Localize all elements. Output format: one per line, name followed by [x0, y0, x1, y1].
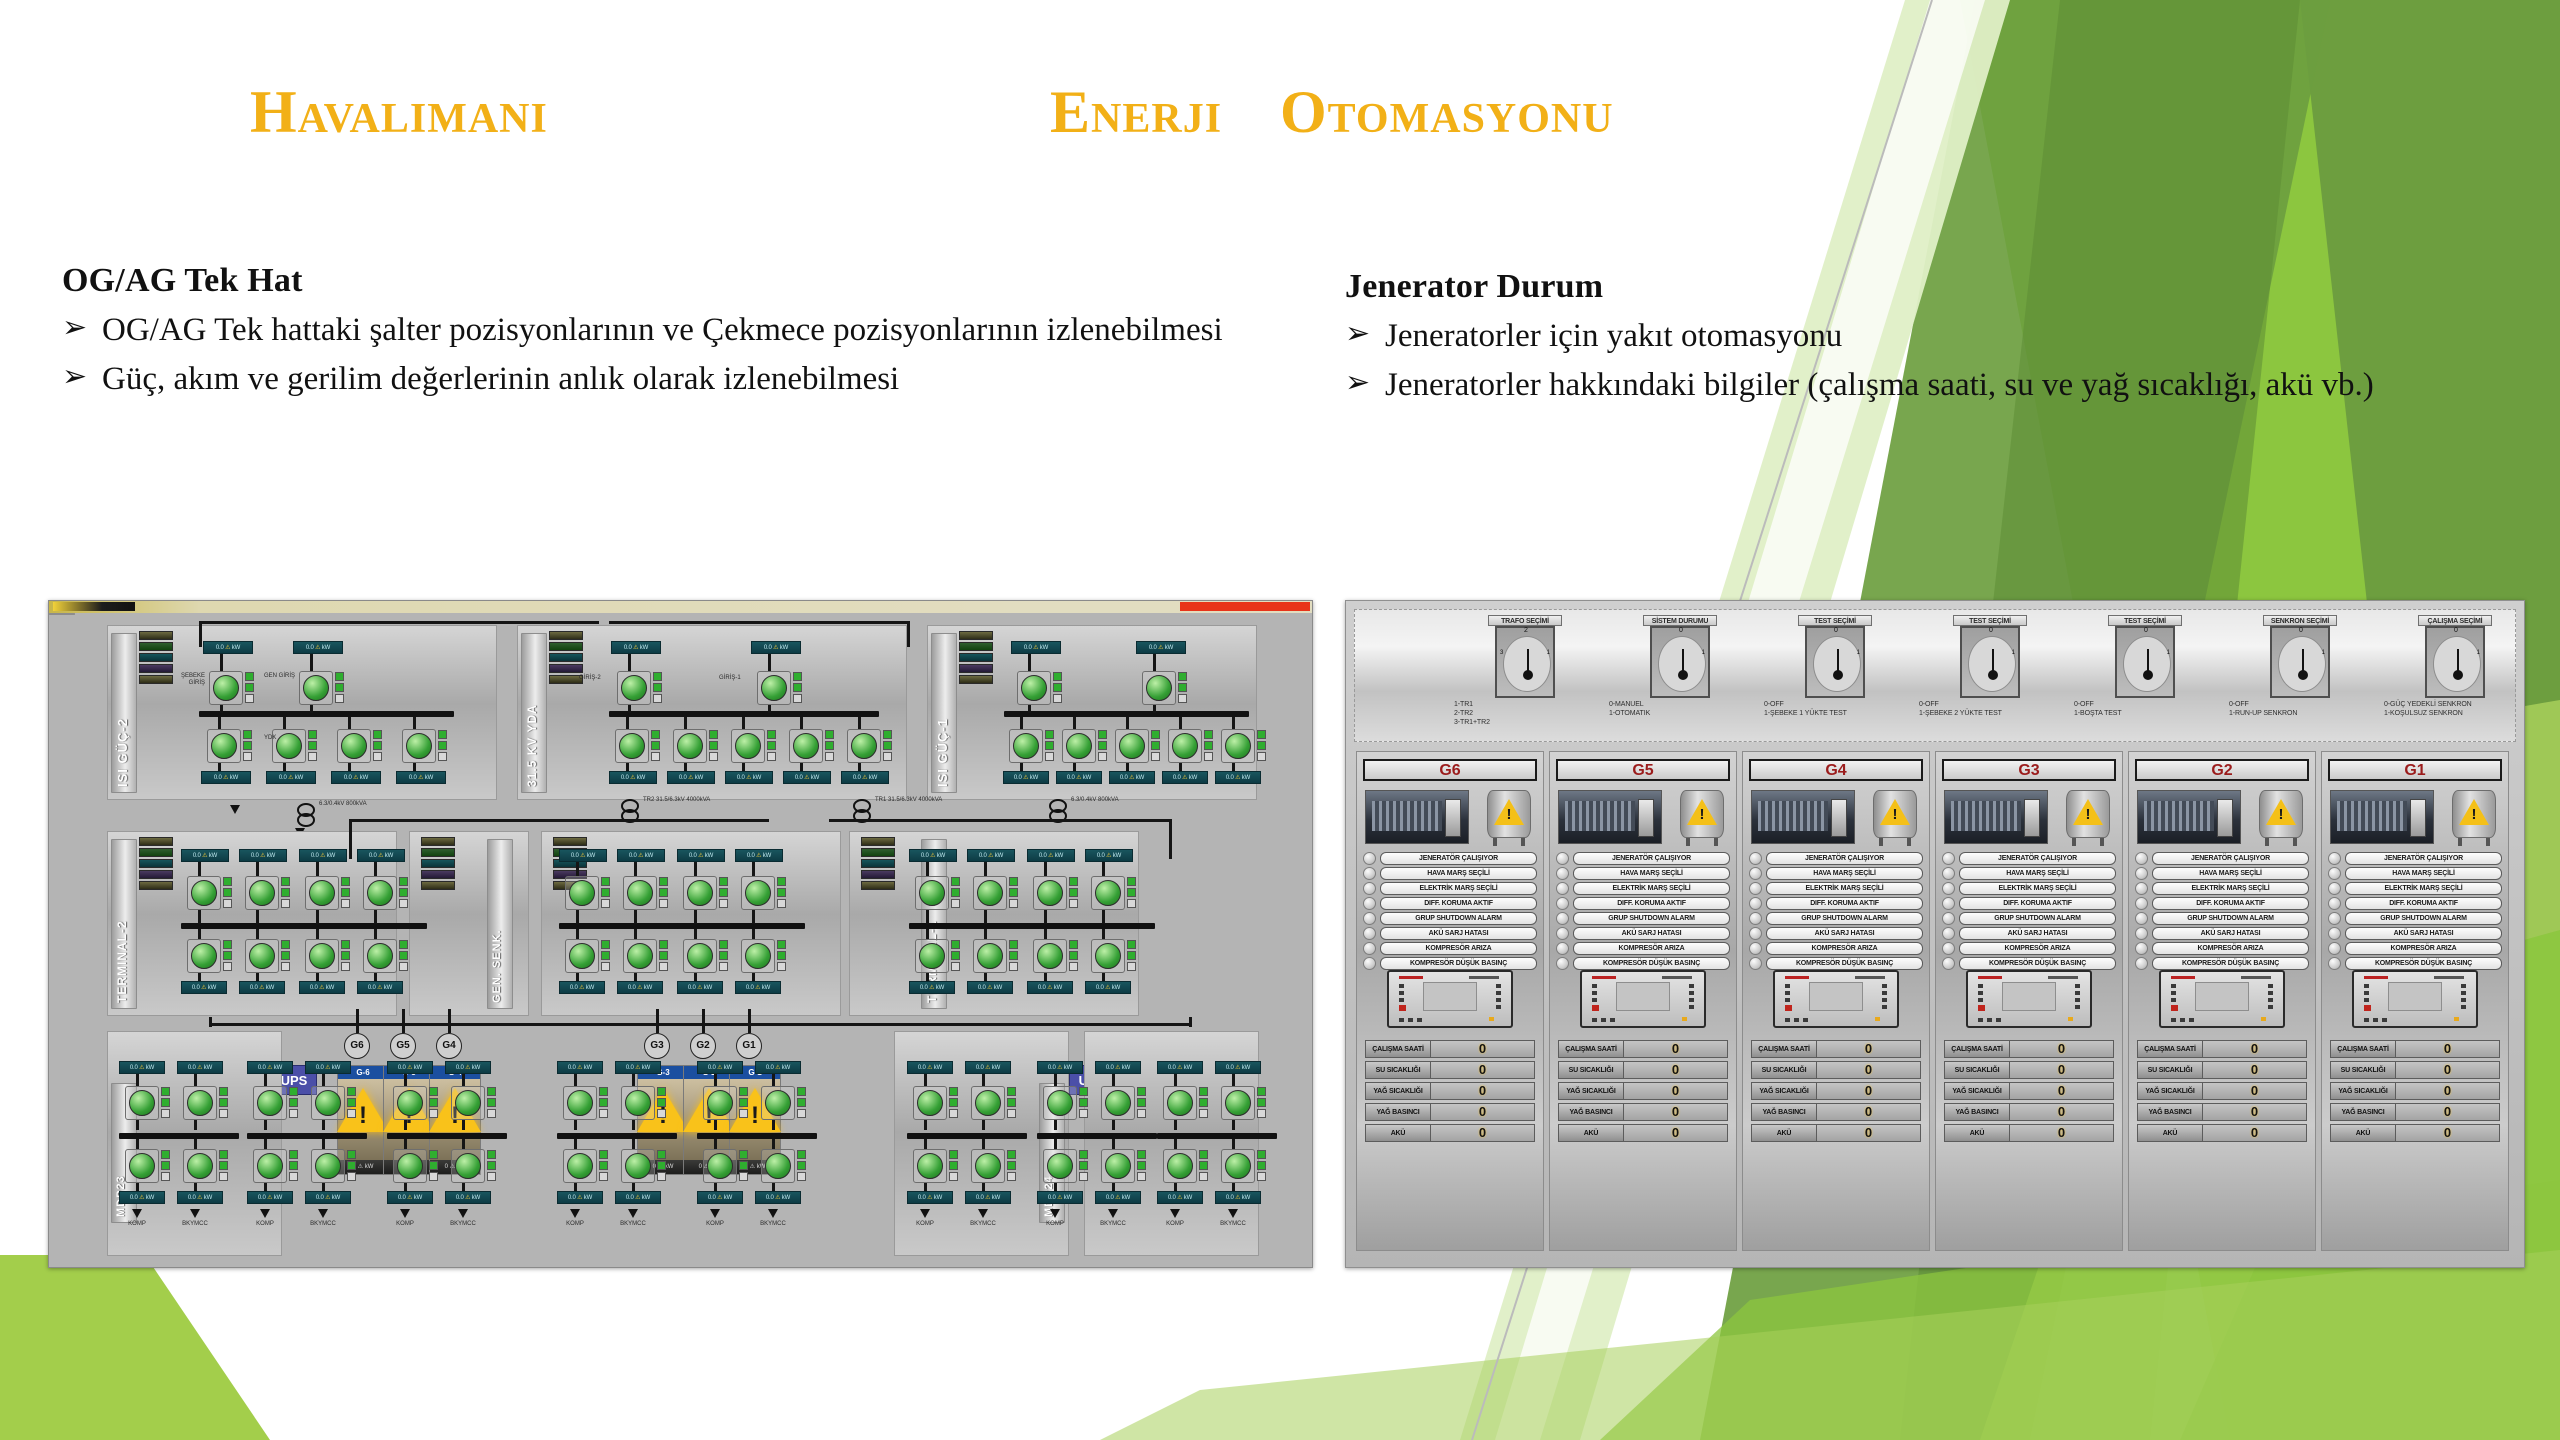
power-unit: kW [937, 853, 945, 859]
power-unit: kW [1184, 1065, 1192, 1071]
breaker-closed-indicator [777, 951, 786, 960]
connection-line [413, 763, 416, 771]
circuit-breaker-symbol[interactable] [687, 880, 713, 906]
breaker-drawer-indicator [1257, 1109, 1266, 1118]
connection-line [800, 763, 803, 771]
selector-switch-5[interactable]: TEST SEÇİMİ010-OFF1-BOŞTA TEST [2070, 615, 2220, 719]
engine-controller-module[interactable] [1387, 970, 1513, 1028]
status-label: JENERATÖR ÇALIŞIYOR [1766, 852, 1923, 865]
circuit-breaker-symbol[interactable] [309, 880, 335, 906]
feeder-arrow [1108, 1209, 1118, 1218]
value-row: YAĞ SICAKLIĞI0 [1365, 1082, 1535, 1100]
circuit-breaker-symbol[interactable] [917, 1153, 943, 1179]
circuit-breaker-symbol[interactable] [707, 1090, 733, 1116]
selector-switch-face[interactable]: 213 [1495, 626, 1555, 698]
breaker-drawer-indicator [1045, 752, 1054, 761]
generator-value-list: ÇALIŞMA SAATİ0SU SICAKLIĞI0YAĞ SICAKLIĞI… [1550, 1040, 1736, 1145]
selector-switch-face[interactable]: 01 [2270, 626, 2330, 698]
bullet-arrow-icon: ➢ [62, 357, 102, 398]
generator-tag-G1: G1 [736, 1033, 762, 1059]
connection-line [194, 1183, 197, 1191]
warning-icon [1880, 799, 1910, 825]
engine-controller-module[interactable] [1580, 970, 1706, 1028]
breaker-drawer-indicator [289, 1109, 298, 1118]
connection-line [209, 1017, 212, 1027]
meter-readout [139, 642, 173, 651]
connection-line [256, 862, 259, 876]
circuit-breaker-symbol[interactable] [1037, 880, 1063, 906]
generator-tag-G2: G2 [690, 1033, 716, 1059]
breaker-drawer-indicator [1127, 962, 1136, 971]
circuit-breaker-symbol[interactable] [567, 1090, 593, 1116]
connection-line [1044, 973, 1047, 981]
circuit-breaker-symbol[interactable] [455, 1090, 481, 1116]
alarm-icon: ⚠ [745, 775, 753, 781]
circuit-breaker-symbol[interactable] [627, 880, 653, 906]
circuit-breaker-symbol[interactable] [1013, 733, 1039, 759]
connection-line [1169, 819, 1172, 859]
selector-switch-1[interactable]: TRAFO SEÇİMİ2131-TR12-TR23-TR1+TR2 [1450, 615, 1600, 727]
circuit-breaker-symbol[interactable] [309, 943, 335, 969]
transformer-label: 6.3/0.4kV 800kVA [319, 801, 389, 808]
power-readout-tag: 0.0 ⚠ kW [965, 1061, 1011, 1074]
circuit-breaker-symbol[interactable] [367, 943, 393, 969]
circuit-breaker-symbol[interactable] [406, 733, 432, 759]
generator-status-list: JENERATÖR ÇALIŞIYORHAVA MARŞ SEÇİLİELEKT… [1936, 852, 2122, 972]
engine-controller-module[interactable] [1966, 970, 2092, 1028]
circuit-breaker-symbol[interactable] [1047, 1090, 1073, 1116]
connection-line [322, 1139, 325, 1149]
power-value: 0.0 [976, 1065, 984, 1071]
generator-panel-G6[interactable]: G6JENERATÖR ÇALIŞIYORHAVA MARŞ SEÇİLİELE… [1356, 751, 1544, 1251]
circuit-breaker-symbol[interactable] [211, 733, 237, 759]
power-readout-tag: 0.0 ⚠ kW [1215, 1061, 1261, 1074]
breaker-name: ŞEBEKE GİRİŞ [167, 673, 205, 687]
selector-switch-face[interactable]: 01 [1805, 626, 1865, 698]
breaker-state-indicator [599, 1150, 608, 1159]
circuit-breaker-symbol[interactable] [1167, 1090, 1193, 1116]
value-label: AKÜ [1751, 1124, 1817, 1142]
circuit-breaker-symbol[interactable] [276, 733, 302, 759]
controller-led [2364, 998, 2369, 1002]
status-lamp-indicator [1556, 927, 1569, 940]
controller-stop-led [2171, 1005, 2178, 1011]
selector-switch-face[interactable]: 01 [1960, 626, 2020, 698]
circuit-breaker-symbol[interactable] [765, 1153, 791, 1179]
power-unit: kW [705, 853, 713, 859]
circuit-breaker-symbol[interactable] [1095, 943, 1121, 969]
power-readout-tag: 0.0 ⚠ kW [1027, 981, 1073, 994]
circuit-breaker-symbol[interactable] [397, 1090, 423, 1116]
alarm-icon: ⚠ [138, 1195, 146, 1201]
power-readout-tag: 0.0 ⚠ kW [697, 1061, 743, 1074]
status-label: ELEKTRİK MARŞ SEÇİLİ [1959, 882, 2116, 895]
connection-line [1112, 1120, 1115, 1130]
circuit-breaker-symbol[interactable] [745, 943, 771, 969]
breaker-drawer-indicator [825, 752, 834, 761]
controller-led [1785, 998, 1790, 1002]
breaker-drawer-indicator [1199, 1109, 1208, 1118]
circuit-breaker-symbol[interactable] [1225, 1153, 1251, 1179]
generator-panel-G5[interactable]: G5JENERATÖR ÇALIŞIYORHAVA MARŞ SEÇİLİELE… [1549, 751, 1737, 1251]
connection-line [1232, 1120, 1235, 1130]
value-label: AKÜ [2330, 1124, 2396, 1142]
alarm-icon: ⚠ [352, 775, 360, 781]
circuit-breaker-symbol[interactable] [315, 1153, 341, 1179]
circuit-breaker-symbol[interactable] [745, 880, 771, 906]
selector-switch-face[interactable]: 01 [1650, 626, 1710, 698]
breaker-state-indicator [719, 877, 728, 886]
circuit-breaker-symbol[interactable] [569, 943, 595, 969]
breaker-closed-indicator [601, 951, 610, 960]
selector-dial [2123, 636, 2171, 692]
value-row: SU SICAKLIĞI0 [1944, 1061, 2114, 1079]
engine-controller-module[interactable] [2159, 970, 2285, 1028]
breaker-state-indicator [709, 730, 718, 739]
breaker-closed-indicator [347, 1161, 356, 1170]
right-column-heading: Jenerator Durum [1345, 268, 2525, 306]
alarm-icon: ⚠ [632, 645, 640, 651]
selector-switch-7[interactable]: ÇALIŞMA SEÇİMİ010-GÜÇ YEDEKLİ SENKRON1-K… [2380, 615, 2525, 719]
value-readout: 0 [1431, 1061, 1535, 1079]
value-label: ÇALIŞMA SAATİ [2137, 1040, 2203, 1058]
circuit-breaker-symbol[interactable] [977, 943, 1003, 969]
connection-line [1020, 717, 1023, 729]
status-lamp-indicator [2135, 942, 2148, 955]
power-unit: kW [584, 1065, 592, 1071]
meter-readout [959, 631, 993, 640]
circuit-breaker-symbol[interactable] [341, 733, 367, 759]
circuit-breaker-symbol[interactable] [1225, 1090, 1251, 1116]
selector-switch-face[interactable]: 01 [2115, 626, 2175, 698]
circuit-breaker-symbol[interactable] [707, 1153, 733, 1179]
power-readout-tag: 0.0 ⚠ kW [617, 981, 663, 994]
selector-legend-line: 0-GÜÇ YEDEKLİ SENKRON [2384, 701, 2525, 710]
meter-readout [421, 837, 455, 846]
circuit-breaker-symbol[interactable] [455, 1153, 481, 1179]
breaker-drawer-indicator [1204, 752, 1213, 761]
breaker-closed-indicator [161, 1161, 170, 1170]
circuit-breaker-symbol[interactable] [919, 943, 945, 969]
circuit-breaker-symbol[interactable] [129, 1153, 155, 1179]
power-unit: kW [1054, 985, 1062, 991]
circuit-breaker-symbol[interactable] [625, 1090, 651, 1116]
power-value: 0.0 [311, 853, 319, 859]
breaker-drawer-indicator [777, 899, 786, 908]
circuit-breaker-symbol[interactable] [1225, 733, 1251, 759]
breaker-drawer-indicator [399, 962, 408, 971]
circuit-breaker-symbol[interactable] [257, 1090, 283, 1116]
breaker-state-indicator [243, 730, 252, 739]
circuit-breaker-symbol[interactable] [249, 880, 275, 906]
power-unit: kW [1064, 1195, 1072, 1201]
power-readout-tag: 0.0 ⚠ kW [305, 1191, 351, 1204]
transformer-label: 6.3/0.4kV 800kVA [1071, 797, 1141, 804]
breaker-name: GEN GİRİŞ [257, 673, 295, 680]
circuit-breaker-symbol[interactable] [1167, 1153, 1193, 1179]
connection-line [694, 862, 697, 876]
circuit-breaker-symbol[interactable] [249, 943, 275, 969]
circuit-breaker-symbol[interactable] [975, 1153, 1001, 1179]
connection-line [374, 862, 377, 876]
controller-amber-led [1489, 1017, 1494, 1021]
circuit-breaker-symbol[interactable] [917, 1090, 943, 1116]
transformer-label: TR2 31.5/6.3kV 4000kVA [643, 797, 713, 804]
power-unit: kW [1064, 1065, 1072, 1071]
circuit-breaker-symbol[interactable] [1066, 733, 1092, 759]
selector-switch-3[interactable]: TEST SEÇİMİ010-OFF1-ŞEBEKE 1 YÜKTE TEST [1760, 615, 1910, 719]
scada-single-line-screenshot[interactable]: ISI GÜÇ-231.5 KV YDAISI GÜÇ-10.0 ⚠ kWŞEB… [48, 600, 1313, 1268]
breaker-state-indicator [487, 1087, 496, 1096]
selector-switch-4[interactable]: TEST SEÇİMİ010-OFF1-ŞEBEKE 2 YÜKTE TEST [1915, 615, 2065, 719]
power-unit: kW [414, 1065, 422, 1071]
alarm-icon: ⚠ [579, 853, 587, 859]
breaker-closed-indicator [341, 951, 350, 960]
circuit-breaker-symbol[interactable] [975, 1090, 1001, 1116]
breaker-drawer-indicator [1069, 899, 1078, 908]
connection-line [702, 1009, 705, 1033]
generator-panel-G4[interactable]: G4JENERATÖR ÇALIŞIYORHAVA MARŞ SEÇİLİELE… [1742, 751, 1930, 1251]
connection-line [1112, 1183, 1115, 1191]
alarm-icon: ⚠ [1234, 1065, 1242, 1071]
connection-line [576, 973, 579, 981]
controller-button [1417, 1018, 1422, 1022]
selector-switch-6[interactable]: SENKRON SEÇİMİ010-OFF1-RUN-UP SENKRON [2225, 615, 2375, 719]
circuit-breaker-symbol[interactable] [851, 733, 877, 759]
power-unit: kW [782, 1065, 790, 1071]
status-lamp-indicator [2135, 867, 2148, 880]
circuit-breaker-symbol[interactable] [687, 943, 713, 969]
connection-line [1153, 705, 1156, 713]
circuit-breaker-symbol[interactable] [1146, 675, 1172, 701]
generator-panel-G3[interactable]: G3JENERATÖR ÇALIŞIYORHAVA MARŞ SEÇİLİELE… [1935, 751, 2123, 1251]
circuit-breaker-symbol[interactable] [129, 1090, 155, 1116]
status-row: KOMPRESÖR DÜŞÜK BASINÇ [1749, 957, 1923, 970]
status-label: HAVA MARŞ SEÇİLİ [1766, 867, 1923, 880]
dial-mark-right: 1 [2322, 650, 2325, 656]
circuit-breaker-symbol[interactable] [919, 880, 945, 906]
selector-switch-face[interactable]: 01 [2425, 626, 2485, 698]
controller-button [2171, 1018, 2176, 1022]
meter-value-stack [139, 837, 173, 892]
connection-line [574, 1120, 577, 1130]
power-value: 0.0 [689, 853, 697, 859]
value-row: ÇALIŞMA SAATİ0 [2137, 1040, 2307, 1058]
titlebar-alarm-strip [1180, 602, 1310, 611]
circuit-breaker-symbol[interactable] [621, 675, 647, 701]
breaker-closed-indicator [308, 741, 317, 750]
controller-led [1399, 984, 1404, 988]
circuit-breaker-symbol[interactable] [187, 1090, 213, 1116]
connection-line [349, 819, 352, 859]
breaker-closed-indicator [1257, 1161, 1266, 1170]
circuit-breaker-symbol[interactable] [187, 1153, 213, 1179]
circuit-breaker-symbol[interactable] [625, 1153, 651, 1179]
selector-legend-line: 2-TR2 [1454, 710, 1600, 719]
circuit-breaker-symbol[interactable] [397, 1153, 423, 1179]
generator-tag-G6: G6 [344, 1033, 370, 1059]
alarm-icon: ⚠ [928, 985, 936, 991]
circuit-breaker-symbol[interactable] [1021, 675, 1047, 701]
power-readout-tag: 0.0 ⚠ kW [203, 641, 253, 654]
generator-engine-image [1751, 790, 1855, 844]
circuit-breaker-symbol[interactable] [619, 733, 645, 759]
status-label: KOMPRESÖR ARIZA [2345, 942, 2502, 955]
power-value: 0.0 [766, 1065, 774, 1071]
breaker-closed-indicator [599, 1161, 608, 1170]
power-unit: kW [695, 775, 703, 781]
power-value: 0.0 [1024, 645, 1032, 651]
power-value: 0.0 [978, 985, 986, 991]
circuit-breaker-symbol[interactable] [977, 880, 1003, 906]
titlebar-logo [53, 602, 135, 611]
power-readout-tag: 0.0 ⚠ kW [181, 981, 227, 994]
value-readout: 0 [1817, 1061, 1921, 1079]
status-row: ELEKTRİK MARŞ SEÇİLİ [1556, 882, 1730, 895]
circuit-breaker-symbol[interactable] [1037, 943, 1063, 969]
controller-display [1809, 982, 1863, 1012]
status-lamp-indicator [1363, 882, 1376, 895]
breaker-closed-indicator [739, 1161, 748, 1170]
power-unit: kW [472, 1065, 480, 1071]
alarm-icon: ⚠ [224, 645, 232, 651]
connection-line [1126, 763, 1129, 771]
circuit-breaker-symbol[interactable] [761, 675, 787, 701]
power-value: 0.0 [764, 645, 772, 651]
connection-line [628, 705, 631, 713]
connection-line [984, 929, 987, 939]
circuit-breaker-symbol[interactable] [367, 880, 393, 906]
circuit-breaker-symbol[interactable] [793, 733, 819, 759]
connection-line [198, 973, 201, 981]
circuit-breaker-symbol[interactable] [257, 1153, 283, 1179]
connection-line [926, 862, 929, 876]
feeder-label: KOMP [1039, 1221, 1071, 1228]
selector-legend-line: 0-OFF [1919, 701, 2065, 710]
circuit-breaker-symbol[interactable] [191, 943, 217, 969]
circuit-breaker-symbol[interactable] [569, 880, 595, 906]
alarm-icon: ⚠ [984, 1065, 992, 1071]
generator-panel-G2[interactable]: G2JENERATÖR ÇALIŞIYORHAVA MARŞ SEÇİLİELE… [2128, 751, 2316, 1251]
tank-leg [1493, 838, 1497, 846]
controller-button-row [1592, 1018, 1615, 1022]
controller-led [2461, 984, 2466, 988]
connection-line [462, 1074, 465, 1086]
power-value: 0.0 [737, 775, 745, 781]
breaker-closed-indicator [1178, 683, 1187, 692]
value-label: SU SICAKLIĞI [1751, 1061, 1817, 1079]
breaker-state-indicator [341, 877, 350, 886]
connection-line [462, 1139, 465, 1149]
controller-led [1882, 998, 1887, 1002]
power-unit: kW [472, 1195, 480, 1201]
power-readout-tag: 0.0 ⚠ kW [177, 1061, 223, 1074]
circuit-breaker-symbol[interactable] [213, 675, 239, 701]
circuit-breaker-symbol[interactable] [735, 733, 761, 759]
generator-panel-G1[interactable]: G1JENERATÖR ÇALIŞIYORHAVA MARŞ SEÇİLİELE… [2321, 751, 2509, 1251]
engine-controller-module[interactable] [2352, 970, 2478, 1028]
controller-led [1978, 998, 1983, 1002]
status-row: HAVA MARŞ SEÇİLİ [1363, 867, 1537, 880]
controller-led [1496, 984, 1501, 988]
engine-controller-module[interactable] [1773, 970, 1899, 1028]
connection-line [684, 763, 687, 771]
status-lamp-indicator [1942, 897, 1955, 910]
value-readout: 0 [2396, 1082, 2500, 1100]
status-lamp-indicator [2328, 912, 2341, 925]
connection-line [1073, 717, 1076, 729]
connection-line [256, 910, 259, 924]
circuit-breaker-symbol[interactable] [1119, 733, 1145, 759]
controller-display [2195, 982, 2249, 1012]
breaker-state-indicator [767, 730, 776, 739]
circuit-breaker-symbol[interactable] [303, 675, 329, 701]
breaker-closed-indicator [429, 1161, 438, 1170]
connection-line [1153, 654, 1156, 672]
circuit-breaker-symbol[interactable] [567, 1153, 593, 1179]
circuit-breaker-symbol[interactable] [1095, 880, 1121, 906]
feeder-arrow [710, 1209, 720, 1218]
circuit-breaker-symbol[interactable] [315, 1090, 341, 1116]
connection-line [632, 1120, 635, 1130]
breaker-state-indicator [1009, 877, 1018, 886]
selector-switch-caption: SİSTEM DURUMU [1643, 615, 1717, 626]
circuit-breaker-symbol[interactable] [1105, 1153, 1131, 1179]
feeder-label: BKYMCC [307, 1221, 339, 1228]
selector-switch-2[interactable]: SİSTEM DURUMU010-MANUEL1-OTOMATIK [1605, 615, 1755, 719]
status-row: GRUP SHUTDOWN ALARM [1363, 912, 1537, 925]
transformer-symbol [297, 803, 315, 829]
controller-led [2268, 984, 2273, 988]
status-label: ELEKTRİK MARŞ SEÇİLİ [1380, 882, 1537, 895]
breaker-state-indicator [601, 877, 610, 886]
connection-line [1179, 763, 1182, 771]
status-lamp-indicator [1556, 882, 1569, 895]
selector-legend-line: 1-BOŞTA TEST [2074, 710, 2220, 719]
status-lamp-indicator [2135, 897, 2148, 910]
tank-leg [1686, 838, 1690, 846]
circuit-breaker-symbol[interactable] [191, 880, 217, 906]
circuit-breaker-symbol[interactable] [627, 943, 653, 969]
value-label: ÇALIŞMA SAATİ [2330, 1040, 2396, 1058]
controller-led-column-right [1496, 984, 1501, 1012]
power-value: 0.0 [747, 853, 755, 859]
connection-line [1054, 1120, 1057, 1130]
circuit-breaker-symbol[interactable] [1047, 1153, 1073, 1179]
power-readout-tag: 0.0 ⚠ kW [1037, 1061, 1083, 1074]
circuit-breaker-symbol[interactable] [677, 733, 703, 759]
controller-button [1399, 1018, 1404, 1022]
power-value: 0.0 [456, 1065, 464, 1071]
circuit-breaker-symbol[interactable] [1105, 1090, 1131, 1116]
generator-title: G3 [1942, 759, 2116, 781]
breaker-drawer-indicator [429, 1109, 438, 1118]
generator-value-list: ÇALIŞMA SAATİ0SU SICAKLIĞI0YAĞ SICAKLIĞI… [1936, 1040, 2122, 1145]
alarm-icon: ⚠ [629, 775, 637, 781]
connection-line [982, 1120, 985, 1130]
status-row: AKÜ SARJ HATASI [1556, 927, 1730, 940]
alarm-icon: ⚠ [259, 853, 267, 859]
power-readout-tag: 0.0 ⚠ kW [735, 981, 781, 994]
circuit-breaker-symbol[interactable] [765, 1090, 791, 1116]
value-readout: 0 [1431, 1082, 1535, 1100]
connection-line [218, 717, 221, 729]
feeder-arrow [1050, 1209, 1060, 1218]
selector-legend-line: 1-RUN-UP SENKRON [2229, 710, 2375, 719]
circuit-breaker-symbol[interactable] [1172, 733, 1198, 759]
connection-line [1174, 1139, 1177, 1149]
scada-generator-status-screenshot[interactable]: TRAFO SEÇİMİ2131-TR12-TR23-TR1+TR2SİSTEM… [1345, 600, 2525, 1268]
